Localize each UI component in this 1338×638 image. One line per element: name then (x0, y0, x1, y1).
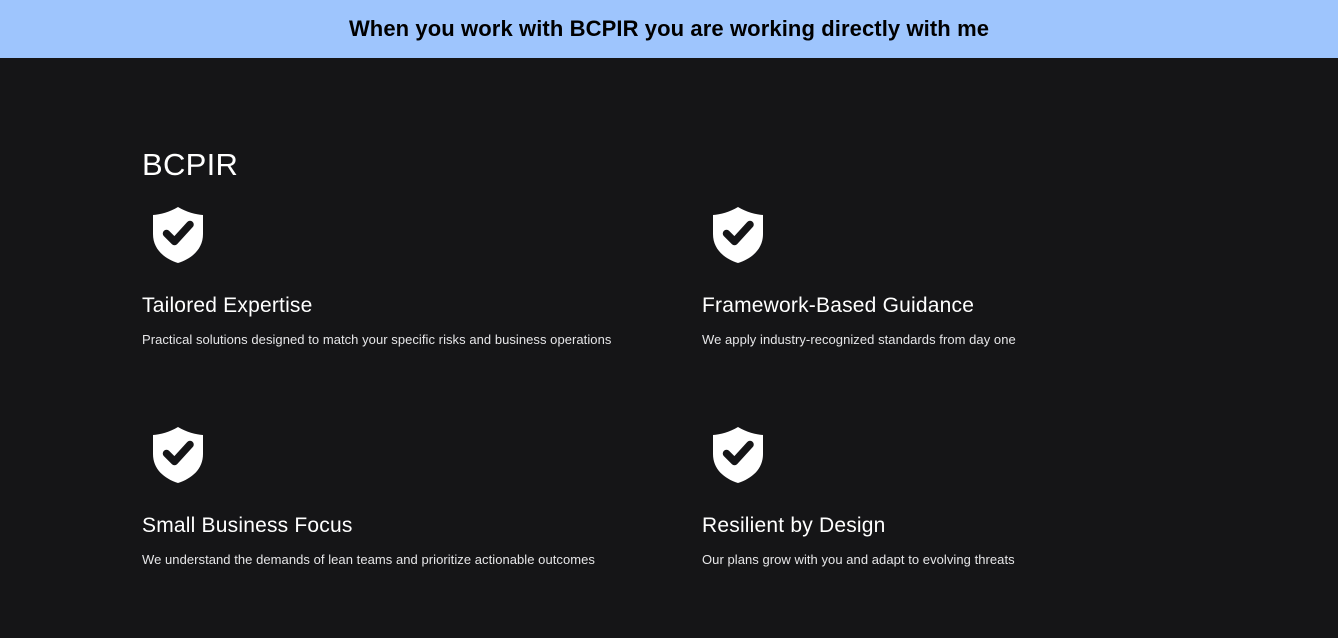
shield-check-icon (150, 206, 206, 264)
shield-check-icon (710, 426, 766, 484)
feature-description: We apply industry-recognized standards f… (702, 331, 1202, 349)
features-grid: Tailored Expertise Practical solutions d… (142, 198, 1202, 638)
announcement-banner: When you work with BCPIR you are working… (0, 0, 1338, 58)
feature-title: Small Business Focus (142, 513, 702, 538)
feature-card: Framework-Based Guidance We apply indust… (702, 198, 1202, 418)
feature-description: We understand the demands of lean teams … (142, 551, 702, 569)
feature-card: Tailored Expertise Practical solutions d… (142, 198, 702, 418)
shield-check-icon (710, 206, 766, 264)
shield-check-icon (150, 426, 206, 484)
main-content: BCPIR Tailored Expertise Practical solut… (0, 58, 1338, 555)
feature-title: Resilient by Design (702, 513, 1202, 538)
feature-title: Framework-Based Guidance (702, 293, 1202, 318)
feature-description: Our plans grow with you and adapt to evo… (702, 551, 1202, 569)
feature-title: Tailored Expertise (142, 293, 702, 318)
feature-description: Practical solutions designed to match yo… (142, 331, 702, 349)
feature-card: Resilient by Design Our plans grow with … (702, 418, 1202, 638)
feature-card: Small Business Focus We understand the d… (142, 418, 702, 638)
announcement-banner-text: When you work with BCPIR you are working… (349, 18, 989, 40)
page-title: BCPIR (142, 148, 238, 182)
